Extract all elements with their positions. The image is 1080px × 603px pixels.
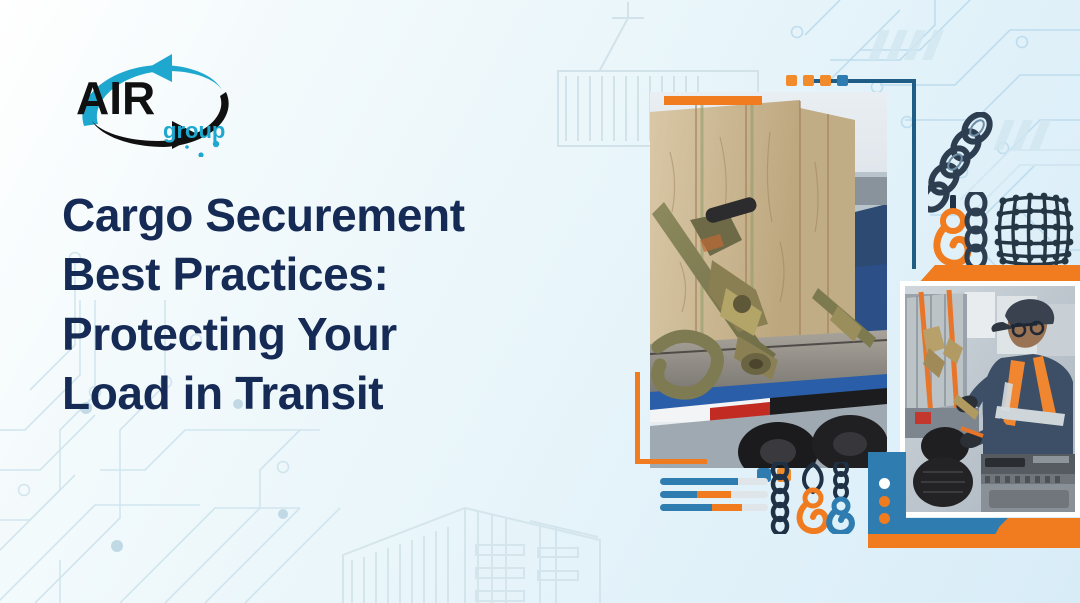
panel-dot-orange-1 (879, 496, 890, 507)
panel-dot-white (879, 478, 890, 489)
photo1-orange-accent-bar (664, 96, 762, 105)
headline-line-1: Cargo Securement (62, 186, 622, 245)
progress-bar-group (660, 478, 768, 517)
square-orange-2 (803, 75, 814, 86)
headline-line-3: Protecting Your (62, 305, 622, 364)
headline-line-2: Best Practices: (62, 245, 622, 304)
hero-banner: AIR group Cargo Securement Best Practice… (0, 0, 1080, 603)
page-title: Cargo Securement Best Practices: Protect… (62, 186, 622, 423)
orange-corner-bracket (635, 372, 707, 464)
progress-bar-1 (660, 478, 768, 485)
square-blue-1 (837, 75, 848, 86)
square-orange-1 (786, 75, 797, 86)
logo-svg: AIR group (68, 52, 243, 157)
chain-vertical-icon (769, 462, 791, 534)
worker-photo-svg (905, 286, 1075, 512)
logo-dot-2 (198, 152, 203, 157)
container-outline-bottom (343, 508, 600, 603)
logo-air-text: AIR (76, 72, 155, 124)
logo-dot-1 (213, 141, 219, 147)
logo-group-text: group (163, 118, 225, 143)
cargo-net-icon (994, 192, 1074, 270)
progress-bar-2 (660, 491, 768, 498)
logo-dot-3 (185, 145, 189, 149)
worker-securing-load-photo (900, 281, 1080, 517)
square-orange-3 (820, 75, 831, 86)
panel-dot-orange-2 (879, 513, 890, 524)
chain-short-icon (962, 192, 990, 270)
progress-bar-3 (660, 504, 768, 511)
headline-line-4: Load in Transit (62, 364, 622, 423)
air-group-logo[interactable]: AIR group (68, 52, 243, 157)
hook-blue-icon (824, 462, 858, 534)
worker-photo-frame (900, 281, 1080, 517)
